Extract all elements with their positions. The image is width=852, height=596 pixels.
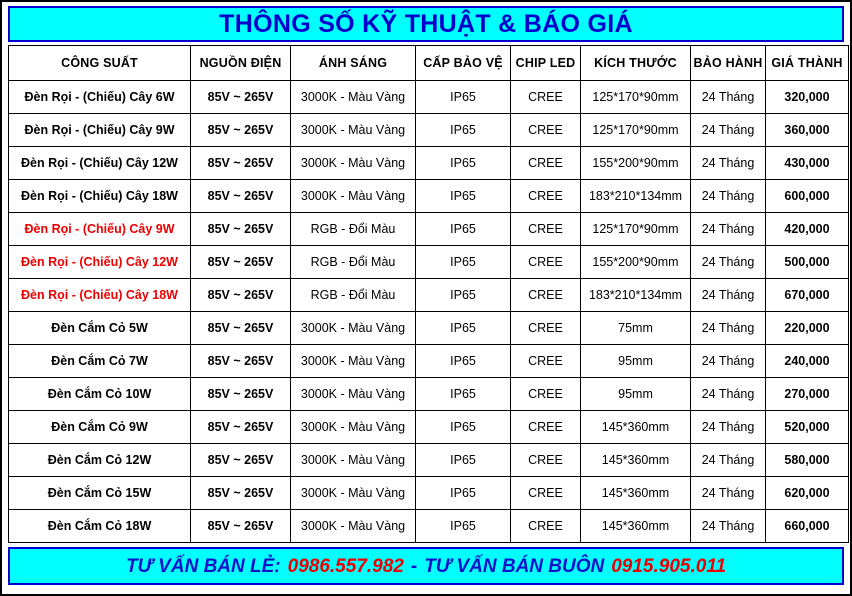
contact-line: TƯ VẤN BÁN LẺ:0986.557.982-TƯ VẤN BÁN BU… [126, 557, 726, 576]
page-title: THÔNG SỐ KỸ THUẬT & BÁO GIÁ [219, 12, 633, 37]
cell-chip: CREE [511, 444, 581, 477]
cell-chip: CREE [511, 378, 581, 411]
cell-chip: CREE [511, 213, 581, 246]
cell-size: 145*360mm [581, 510, 691, 543]
cell-product-name: Đèn Cắm Cỏ 7W [9, 345, 191, 378]
cell-light: 3000K - Màu Vàng [291, 147, 416, 180]
column-header-power: CÔNG SUẤT [9, 46, 191, 81]
cell-warranty: 24 Tháng [691, 477, 766, 510]
cell-price: 420,000 [766, 213, 849, 246]
cell-voltage: 85V ~ 265V [191, 510, 291, 543]
wholesale-label: TƯ VẤN BÁN BUÔN [424, 556, 604, 577]
cell-light: 3000K - Màu Vàng [291, 312, 416, 345]
cell-size: 145*360mm [581, 444, 691, 477]
cell-size: 75mm [581, 312, 691, 345]
cell-warranty: 24 Tháng [691, 213, 766, 246]
table-row: Đèn Cắm Cỏ 7W85V ~ 265V3000K - Màu VàngI… [9, 345, 849, 378]
cell-voltage: 85V ~ 265V [191, 81, 291, 114]
cell-product-name: Đèn Rọi - (Chiếu) Cây 9W [9, 114, 191, 147]
cell-protection: IP65 [416, 81, 511, 114]
cell-protection: IP65 [416, 279, 511, 312]
cell-price: 240,000 [766, 345, 849, 378]
cell-size: 125*170*90mm [581, 114, 691, 147]
contact-banner: TƯ VẤN BÁN LẺ:0986.557.982-TƯ VẤN BÁN BU… [8, 547, 844, 585]
table-row: Đèn Rọi - (Chiếu) Cây 12W85V ~ 265VRGB -… [9, 246, 849, 279]
cell-price: 670,000 [766, 279, 849, 312]
table-row: Đèn Cắm Cỏ 12W85V ~ 265V3000K - Màu Vàng… [9, 444, 849, 477]
cell-warranty: 24 Tháng [691, 114, 766, 147]
cell-chip: CREE [511, 411, 581, 444]
table-row: Đèn Cắm Cỏ 18W85V ~ 265V3000K - Màu Vàng… [9, 510, 849, 543]
table-header-row: CÔNG SUẤT NGUỒN ĐIỆN ÁNH SÁNG CẤP BẢO VỆ… [9, 46, 849, 81]
cell-product-name: Đèn Cắm Cỏ 12W [9, 444, 191, 477]
cell-product-name: Đèn Cắm Cỏ 10W [9, 378, 191, 411]
cell-product-name: Đèn Rọi - (Chiếu) Cây 18W [9, 180, 191, 213]
column-header-warranty: BẢO HÀNH [691, 46, 766, 81]
cell-warranty: 24 Tháng [691, 81, 766, 114]
cell-light: 3000K - Màu Vàng [291, 180, 416, 213]
cell-warranty: 24 Tháng [691, 180, 766, 213]
cell-protection: IP65 [416, 312, 511, 345]
cell-protection: IP65 [416, 477, 511, 510]
cell-voltage: 85V ~ 265V [191, 378, 291, 411]
cell-size: 145*360mm [581, 477, 691, 510]
wholesale-phone[interactable]: 0915.905.011 [611, 556, 726, 577]
cell-protection: IP65 [416, 378, 511, 411]
cell-size: 183*210*134mm [581, 180, 691, 213]
cell-light: 3000K - Màu Vàng [291, 345, 416, 378]
cell-warranty: 24 Tháng [691, 312, 766, 345]
cell-price: 360,000 [766, 114, 849, 147]
cell-light: 3000K - Màu Vàng [291, 81, 416, 114]
specification-price-table: CÔNG SUẤT NGUỒN ĐIỆN ÁNH SÁNG CẤP BẢO VỆ… [8, 45, 849, 543]
cell-light: 3000K - Màu Vàng [291, 411, 416, 444]
cell-voltage: 85V ~ 265V [191, 114, 291, 147]
cell-warranty: 24 Tháng [691, 345, 766, 378]
retail-phone[interactable]: 0986.557.982 [288, 556, 404, 577]
cell-voltage: 85V ~ 265V [191, 246, 291, 279]
table-row: Đèn Rọi - (Chiếu) Cây 18W85V ~ 265VRGB -… [9, 279, 849, 312]
cell-price: 430,000 [766, 147, 849, 180]
cell-chip: CREE [511, 312, 581, 345]
cell-protection: IP65 [416, 345, 511, 378]
cell-chip: CREE [511, 114, 581, 147]
cell-voltage: 85V ~ 265V [191, 312, 291, 345]
table-row: Đèn Rọi - (Chiếu) Cây 9W85V ~ 265V3000K … [9, 114, 849, 147]
cell-product-name: Đèn Cắm Cỏ 18W [9, 510, 191, 543]
cell-voltage: 85V ~ 265V [191, 477, 291, 510]
table-row: Đèn Cắm Cỏ 10W85V ~ 265V3000K - Màu Vàng… [9, 378, 849, 411]
cell-warranty: 24 Tháng [691, 510, 766, 543]
cell-chip: CREE [511, 147, 581, 180]
cell-price: 580,000 [766, 444, 849, 477]
cell-voltage: 85V ~ 265V [191, 411, 291, 444]
table-row: Đèn Rọi - (Chiếu) Cây 12W85V ~ 265V3000K… [9, 147, 849, 180]
cell-protection: IP65 [416, 147, 511, 180]
cell-warranty: 24 Tháng [691, 147, 766, 180]
cell-voltage: 85V ~ 265V [191, 345, 291, 378]
cell-chip: CREE [511, 477, 581, 510]
column-header-voltage: NGUỒN ĐIỆN [191, 46, 291, 81]
cell-protection: IP65 [416, 411, 511, 444]
table-row: Đèn Rọi - (Chiếu) Cây 6W85V ~ 265V3000K … [9, 81, 849, 114]
cell-product-name: Đèn Rọi - (Chiếu) Cây 18W [9, 279, 191, 312]
price-list-sheet: THÔNG SỐ KỸ THUẬT & BÁO GIÁ CÔNG SUẤT NG… [0, 0, 852, 596]
cell-price: 660,000 [766, 510, 849, 543]
cell-light: 3000K - Màu Vàng [291, 114, 416, 147]
cell-price: 500,000 [766, 246, 849, 279]
cell-price: 600,000 [766, 180, 849, 213]
cell-warranty: 24 Tháng [691, 246, 766, 279]
column-header-light: ÁNH SÁNG [291, 46, 416, 81]
table-row: Đèn Cắm Cỏ 9W85V ~ 265V3000K - Màu VàngI… [9, 411, 849, 444]
cell-warranty: 24 Tháng [691, 411, 766, 444]
cell-warranty: 24 Tháng [691, 279, 766, 312]
cell-chip: CREE [511, 510, 581, 543]
cell-price: 270,000 [766, 378, 849, 411]
cell-voltage: 85V ~ 265V [191, 213, 291, 246]
title-banner: THÔNG SỐ KỸ THUẬT & BÁO GIÁ [8, 6, 844, 42]
column-header-protection: CẤP BẢO VỆ [416, 46, 511, 81]
cell-chip: CREE [511, 279, 581, 312]
cell-protection: IP65 [416, 246, 511, 279]
cell-product-name: Đèn Cắm Cỏ 9W [9, 411, 191, 444]
cell-light: 3000K - Màu Vàng [291, 510, 416, 543]
cell-price: 320,000 [766, 81, 849, 114]
cell-light: 3000K - Màu Vàng [291, 444, 416, 477]
cell-product-name: Đèn Rọi - (Chiếu) Cây 9W [9, 213, 191, 246]
cell-size: 95mm [581, 345, 691, 378]
table-body: Đèn Rọi - (Chiếu) Cây 6W85V ~ 265V3000K … [9, 81, 849, 543]
cell-size: 183*210*134mm [581, 279, 691, 312]
column-header-size: KÍCH THƯỚC [581, 46, 691, 81]
cell-voltage: 85V ~ 265V [191, 147, 291, 180]
cell-light: RGB - Đổi Màu [291, 279, 416, 312]
cell-light: 3000K - Màu Vàng [291, 378, 416, 411]
cell-protection: IP65 [416, 510, 511, 543]
cell-size: 155*200*90mm [581, 147, 691, 180]
table-row: Đèn Cắm Cỏ 15W85V ~ 265V3000K - Màu Vàng… [9, 477, 849, 510]
cell-price: 620,000 [766, 477, 849, 510]
column-header-chip: CHIP LED [511, 46, 581, 81]
cell-price: 520,000 [766, 411, 849, 444]
cell-light: RGB - Đổi Màu [291, 213, 416, 246]
cell-chip: CREE [511, 180, 581, 213]
table-row: Đèn Rọi - (Chiếu) Cây 18W85V ~ 265V3000K… [9, 180, 849, 213]
cell-size: 125*170*90mm [581, 81, 691, 114]
table-row: Đèn Cắm Cỏ 5W85V ~ 265V3000K - Màu VàngI… [9, 312, 849, 345]
cell-voltage: 85V ~ 265V [191, 279, 291, 312]
cell-product-name: Đèn Rọi - (Chiếu) Cây 12W [9, 246, 191, 279]
cell-size: 95mm [581, 378, 691, 411]
cell-size: 155*200*90mm [581, 246, 691, 279]
cell-product-name: Đèn Rọi - (Chiếu) Cây 12W [9, 147, 191, 180]
cell-protection: IP65 [416, 114, 511, 147]
column-header-price: GIÁ THÀNH [766, 46, 849, 81]
cell-warranty: 24 Tháng [691, 378, 766, 411]
cell-product-name: Đèn Rọi - (Chiếu) Cây 6W [9, 81, 191, 114]
retail-label: TƯ VẤN BÁN LẺ: [126, 556, 281, 577]
separator-dash: - [411, 556, 417, 577]
cell-chip: CREE [511, 345, 581, 378]
cell-size: 145*360mm [581, 411, 691, 444]
cell-light: 3000K - Màu Vàng [291, 477, 416, 510]
cell-size: 125*170*90mm [581, 213, 691, 246]
cell-protection: IP65 [416, 180, 511, 213]
cell-chip: CREE [511, 246, 581, 279]
cell-voltage: 85V ~ 265V [191, 444, 291, 477]
cell-protection: IP65 [416, 213, 511, 246]
cell-protection: IP65 [416, 444, 511, 477]
cell-price: 220,000 [766, 312, 849, 345]
cell-product-name: Đèn Cắm Cỏ 15W [9, 477, 191, 510]
cell-warranty: 24 Tháng [691, 444, 766, 477]
cell-voltage: 85V ~ 265V [191, 180, 291, 213]
table-row: Đèn Rọi - (Chiếu) Cây 9W85V ~ 265VRGB - … [9, 213, 849, 246]
cell-product-name: Đèn Cắm Cỏ 5W [9, 312, 191, 345]
cell-light: RGB - Đổi Màu [291, 246, 416, 279]
cell-chip: CREE [511, 81, 581, 114]
